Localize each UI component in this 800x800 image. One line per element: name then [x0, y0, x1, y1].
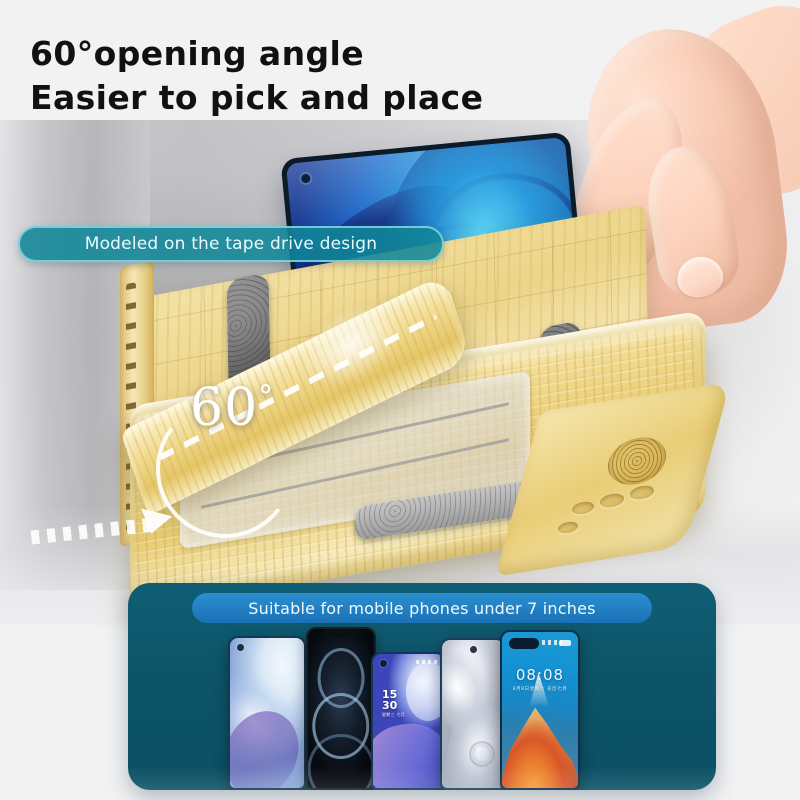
- phone-5-clock: 08:088月8日星期六 农历七月: [502, 666, 578, 692]
- headline-text: 60°opening angle Easier to pick and plac…: [30, 32, 500, 119]
- angle-label: 60°: [190, 378, 274, 438]
- phone-5-screen: 08:088月8日星期六 农历七月: [502, 632, 578, 788]
- phone-3-wallpaper-moon: [406, 662, 444, 721]
- product-marketing-image: 60°opening angle Easier to pick and plac…: [0, 0, 800, 800]
- phone-2-notch: [324, 629, 358, 638]
- bamboo-phone-holder: 60°: [120, 250, 700, 580]
- compatibility-panel: Suitable for mobile phones under 7 inche…: [128, 583, 716, 790]
- phone-3-clock-minutes: 30: [382, 700, 405, 711]
- phone-2-screen: [308, 629, 374, 788]
- degree-symbol: °: [258, 380, 274, 415]
- phone-3-camera-icon: [380, 660, 387, 667]
- headline-line-2: Easier to pick and place: [30, 76, 500, 120]
- angle-value: 60: [190, 378, 258, 438]
- banner-tape-drive-label: Modeled on the tape drive design: [85, 234, 378, 254]
- phone-4-fingerprint-icon: [469, 741, 495, 767]
- phone-3-status-bar: [416, 660, 438, 664]
- phone-5-date: 8月8日星期六 农历七月: [502, 686, 578, 692]
- phone-5-pill-camera-cutout: [509, 638, 539, 649]
- headline-line-1: 60°opening angle: [30, 32, 500, 76]
- banner-suitable-phones: Suitable for mobile phones under 7 inche…: [192, 593, 652, 623]
- banner-suitable-label: Suitable for mobile phones under 7 inche…: [248, 599, 595, 618]
- phone-5-battery-icon: [559, 640, 571, 646]
- phone-1-camera-icon: [237, 644, 244, 651]
- phone-4-camera-icon: [470, 646, 477, 653]
- panel-bottom-reflection: [128, 766, 716, 790]
- banner-tape-drive-design: Modeled on the tape drive design: [18, 226, 444, 262]
- phone-3-clock: 15 30 星期三 七月: [382, 689, 405, 717]
- phone-3-date: 星期三 七月: [382, 713, 405, 717]
- phone-5-clock-time: 08:08: [516, 666, 564, 684]
